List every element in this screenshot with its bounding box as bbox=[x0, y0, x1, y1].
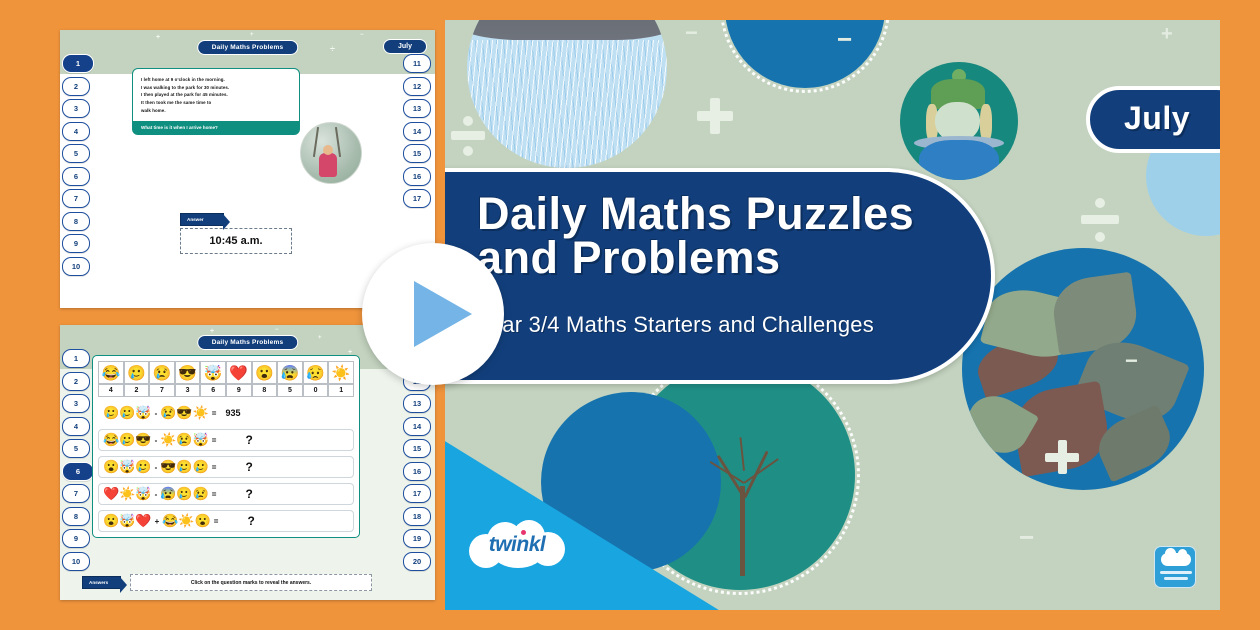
divide-symbol-icon: ÷ bbox=[330, 44, 335, 54]
girl-winter-hat-circle-image bbox=[900, 62, 1018, 180]
nav-chip-14[interactable]: 14 bbox=[403, 417, 431, 436]
equation-emoji: 😎 bbox=[160, 459, 176, 475]
thumb1-month-badge: July bbox=[383, 39, 427, 54]
nav-chip-18[interactable]: 18 bbox=[403, 507, 431, 526]
minus-symbol-icon: − bbox=[275, 327, 279, 333]
equation-emoji: 😢 bbox=[160, 405, 176, 421]
emoji-key-cell: ❤️ bbox=[226, 361, 252, 384]
equation-emoji: 😎 bbox=[176, 405, 192, 421]
nav-chip-17[interactable]: 17 bbox=[403, 189, 431, 208]
nav-chip-6[interactable]: 6 bbox=[62, 462, 94, 481]
equation-row: 🥲🥲🤯-😢😎☀️=935 bbox=[98, 402, 354, 424]
thumb1-nav-right: 11121314151617 bbox=[403, 54, 433, 212]
nav-chip-20[interactable]: 20 bbox=[403, 552, 431, 571]
equation-emoji: 😎 bbox=[135, 432, 151, 448]
digit-key-cell: 2 bbox=[124, 384, 150, 397]
thumb2-nav-left: 12345678910 bbox=[62, 349, 92, 574]
scallop-ring bbox=[467, 20, 667, 168]
nav-chip-4[interactable]: 4 bbox=[62, 417, 90, 436]
badge-text-line bbox=[1164, 577, 1188, 580]
equation-emoji: 🤯 bbox=[135, 405, 151, 421]
question-mark-answer[interactable]: ? bbox=[245, 433, 252, 447]
digit-key-cell: 9 bbox=[226, 384, 252, 397]
digit-key-cell: 7 bbox=[149, 384, 175, 397]
question-mark-answer[interactable]: ? bbox=[245, 460, 252, 474]
nav-chip-9[interactable]: 9 bbox=[62, 234, 90, 253]
equation-emoji: ☀️ bbox=[193, 405, 209, 421]
equation-emoji: 😮 bbox=[103, 513, 119, 529]
digit-key-cell: 1 bbox=[328, 384, 354, 397]
badge-text-line bbox=[1160, 571, 1192, 574]
digit-key-cell: 8 bbox=[252, 384, 278, 397]
equals-symbol: = bbox=[212, 409, 217, 418]
nav-chip-15[interactable]: 15 bbox=[403, 439, 431, 458]
plus-symbol-icon: + bbox=[1161, 24, 1173, 44]
equation-emoji: 🥲 bbox=[119, 432, 135, 448]
nav-chip-17[interactable]: 17 bbox=[403, 484, 431, 503]
plus-symbol-icon: + bbox=[250, 32, 254, 38]
play-triangle-icon bbox=[414, 281, 472, 347]
nav-chip-1[interactable]: 1 bbox=[62, 349, 90, 368]
nav-chip-14[interactable]: 14 bbox=[403, 122, 431, 141]
equation-row[interactable]: 😂🥲😎-☀️😢🤯=? bbox=[98, 429, 354, 451]
equation-list: 🥲🥲🤯-😢😎☀️=935😂🥲😎-☀️😢🤯=?😮🤯🥲-😎🥲🥲=?❤️☀️🤯-😰🥲😢… bbox=[98, 402, 354, 532]
equation-emoji: ☀️ bbox=[119, 486, 135, 502]
thumb1-nav-left: 12345678910 bbox=[62, 54, 92, 279]
equation-emoji: 🤯 bbox=[119, 459, 135, 475]
nav-chip-2[interactable]: 2 bbox=[62, 372, 90, 391]
scallop-ring bbox=[900, 62, 1018, 180]
page-title: Daily Maths Puzzlesand Problems bbox=[477, 192, 967, 280]
plus-symbol-icon: + bbox=[210, 328, 214, 335]
equation-emoji: 🥲 bbox=[193, 459, 209, 475]
nav-chip-13[interactable]: 13 bbox=[403, 394, 431, 413]
thumb2-answers-tag: Answers bbox=[82, 576, 121, 589]
equation-emoji: 🥲 bbox=[103, 405, 119, 421]
equation-emoji: 😂 bbox=[103, 432, 119, 448]
equals-symbol: = bbox=[212, 463, 217, 472]
equation-emoji: 🥲 bbox=[176, 486, 192, 502]
plus-symbol-icon: + bbox=[318, 335, 322, 341]
plus-symbol-icon bbox=[1045, 440, 1079, 474]
swing-child-figure bbox=[319, 153, 337, 177]
slide-thumbnail-2[interactable]: + − + + Daily Maths Problems July 123456… bbox=[60, 325, 435, 600]
nav-chip-5[interactable]: 5 bbox=[62, 144, 90, 163]
emoji-key-cell: 😂 bbox=[98, 361, 124, 384]
emoji-key-cell: 🥲 bbox=[124, 361, 150, 384]
equation-emoji: 😮 bbox=[195, 513, 211, 529]
equation-emoji: ☀️ bbox=[160, 432, 176, 448]
equals-symbol: = bbox=[212, 490, 217, 499]
title-plaque: Daily Maths Puzzlesand Problems Year 3/4… bbox=[445, 168, 995, 384]
month-badge: July bbox=[1086, 86, 1220, 153]
quality-standard-badge bbox=[1154, 546, 1196, 588]
equation-row[interactable]: 😮🤯🥲-😎🥲🥲=? bbox=[98, 456, 354, 478]
autumn-leaves-circle-image bbox=[962, 248, 1204, 490]
nav-chip-6[interactable]: 6 bbox=[62, 167, 90, 186]
minus-symbol-icon: − bbox=[837, 26, 852, 52]
digit-key-cell: 5 bbox=[277, 384, 303, 397]
operator-symbol: - bbox=[155, 436, 158, 445]
equation-emoji: 😂 bbox=[162, 513, 178, 529]
rainy-cloud-circle-image bbox=[467, 20, 667, 168]
digit-key-cell: 0 bbox=[303, 384, 329, 397]
equation-result: 935 bbox=[225, 408, 240, 418]
equation-emoji: 😢 bbox=[176, 432, 192, 448]
nav-chip-3[interactable]: 3 bbox=[62, 99, 90, 118]
question-mark-answer[interactable]: ? bbox=[245, 487, 252, 501]
thumb2-puzzle-card: 😂🥲😢😎🤯❤️😮😰😥☀️ 4273698501 🥲🥲🤯-😢😎☀️=935😂🥲😎-… bbox=[92, 355, 360, 538]
minus-symbol-icon: − bbox=[1019, 524, 1034, 550]
nav-chip-3[interactable]: 3 bbox=[62, 394, 90, 413]
nav-chip-16[interactable]: 16 bbox=[403, 167, 431, 186]
minus-symbol-icon: − bbox=[360, 32, 364, 38]
problem-line: I left home at 9 o'clock in the morning. bbox=[141, 76, 291, 84]
thumb1-answer-value: 10:45 a.m. bbox=[180, 228, 292, 254]
nav-chip-4[interactable]: 4 bbox=[62, 122, 90, 141]
scallop-ring bbox=[720, 20, 890, 93]
digit-key-cell: 6 bbox=[200, 384, 226, 397]
problem-line: I then played at the park for 45 minutes… bbox=[141, 91, 291, 99]
nav-chip-10[interactable]: 10 bbox=[62, 257, 90, 276]
thumb2-header-title: Daily Maths Problems bbox=[197, 335, 299, 350]
thumb1-header-title: Daily Maths Problems bbox=[197, 40, 299, 55]
equation-emoji: 🤯 bbox=[193, 432, 209, 448]
operator-symbol: - bbox=[155, 490, 158, 499]
equation-emoji: ❤️ bbox=[135, 513, 151, 529]
thumb1-answer-tag: Answer bbox=[180, 213, 224, 226]
scallop-ring bbox=[962, 248, 1204, 490]
equation-emoji: ☀️ bbox=[178, 513, 194, 529]
equation-emoji: 🥲 bbox=[135, 459, 151, 475]
operator-symbol: - bbox=[155, 409, 158, 418]
girl-on-swing-image bbox=[300, 122, 362, 184]
nav-chip-9[interactable]: 9 bbox=[62, 529, 90, 548]
nav-chip-11[interactable]: 11 bbox=[403, 54, 431, 73]
deco-circle-blue bbox=[725, 20, 885, 88]
operator-symbol: + bbox=[155, 517, 160, 526]
equation-emoji: 😰 bbox=[160, 486, 176, 502]
nav-chip-7[interactable]: 7 bbox=[62, 189, 90, 208]
nav-chip-13[interactable]: 13 bbox=[403, 99, 431, 118]
emoji-key-cell: 😰 bbox=[277, 361, 303, 384]
emoji-key-cell: 🤯 bbox=[200, 361, 226, 384]
digit-key-cell: 3 bbox=[175, 384, 201, 397]
equation-emoji: ❤️ bbox=[103, 486, 119, 502]
main-slide-preview[interactable]: − − − ÷ + − Daily Maths Puzzlesand Probl… bbox=[445, 20, 1220, 610]
badge-cloud-icon bbox=[1161, 553, 1191, 566]
equation-emoji: 🥲 bbox=[176, 459, 192, 475]
thumb1-problem-card: I left home at 9 o'clock in the morning.… bbox=[132, 68, 300, 135]
equation-emoji: 😢 bbox=[193, 486, 209, 502]
emoji-key-row: 😂🥲😢😎🤯❤️😮😰😥☀️ bbox=[98, 361, 354, 384]
nav-chip-2[interactable]: 2 bbox=[62, 77, 90, 96]
problem-line: walk home. bbox=[141, 107, 291, 115]
twinkl-logo: twinkl bbox=[469, 520, 565, 570]
nav-chip-10[interactable]: 10 bbox=[62, 552, 90, 571]
minus-symbol-icon: − bbox=[1125, 350, 1138, 372]
problem-line: It then took me the same time to bbox=[141, 99, 291, 107]
minus-symbol-icon: − bbox=[685, 22, 698, 44]
thumb2-answers-bar: Answers Click on the question marks to r… bbox=[82, 574, 372, 591]
divide-symbol-icon bbox=[1081, 198, 1119, 242]
logo-wordmark: twinkl bbox=[469, 533, 565, 557]
divide-symbol-icon bbox=[451, 116, 485, 156]
equation-row[interactable]: ❤️☀️🤯-😰🥲😢=? bbox=[98, 483, 354, 505]
thumb1-answer-block: Answer 10:45 a.m. bbox=[180, 213, 292, 254]
equation-emoji: 🤯 bbox=[119, 513, 135, 529]
logo-dot bbox=[521, 530, 526, 535]
nav-chip-19[interactable]: 19 bbox=[403, 529, 431, 548]
nav-chip-15[interactable]: 15 bbox=[403, 144, 431, 163]
thumb1-question-bar: What time is it when I arrive home? bbox=[133, 121, 299, 134]
digit-key-row: 4273698501 bbox=[98, 384, 354, 397]
emoji-key-cell: 😥 bbox=[303, 361, 329, 384]
equation-emoji: 😮 bbox=[103, 459, 119, 475]
nav-chip-5[interactable]: 5 bbox=[62, 439, 90, 458]
question-mark-answer[interactable]: ? bbox=[247, 514, 254, 528]
plus-symbol-icon: + bbox=[156, 34, 160, 41]
equals-symbol: = bbox=[214, 517, 219, 526]
nav-chip-16[interactable]: 16 bbox=[403, 462, 431, 481]
nav-chip-1[interactable]: 1 bbox=[62, 54, 94, 73]
emoji-key-cell: ☀️ bbox=[328, 361, 354, 384]
play-button[interactable] bbox=[362, 243, 504, 385]
nav-chip-8[interactable]: 8 bbox=[62, 212, 90, 231]
digit-key-cell: 4 bbox=[98, 384, 124, 397]
operator-symbol: - bbox=[155, 463, 158, 472]
emoji-key-cell: 😎 bbox=[175, 361, 201, 384]
plus-symbol-icon bbox=[697, 98, 733, 134]
equation-emoji: 🥲 bbox=[119, 405, 135, 421]
thumb2-answers-hint: Click on the question marks to reveal th… bbox=[130, 574, 372, 591]
equation-emoji: 🤯 bbox=[135, 486, 151, 502]
problem-line: I was walking to the park for 30 minutes… bbox=[141, 84, 291, 92]
equation-row[interactable]: 😮🤯❤️+😂☀️😮=? bbox=[98, 510, 354, 532]
emoji-key-cell: 😢 bbox=[149, 361, 175, 384]
nav-chip-8[interactable]: 8 bbox=[62, 507, 90, 526]
nav-chip-12[interactable]: 12 bbox=[403, 77, 431, 96]
page-subtitle: Year 3/4 Maths Starters and Challenges bbox=[477, 312, 977, 338]
equals-symbol: = bbox=[212, 436, 217, 445]
nav-chip-7[interactable]: 7 bbox=[62, 484, 90, 503]
emoji-key-cell: 😮 bbox=[252, 361, 278, 384]
